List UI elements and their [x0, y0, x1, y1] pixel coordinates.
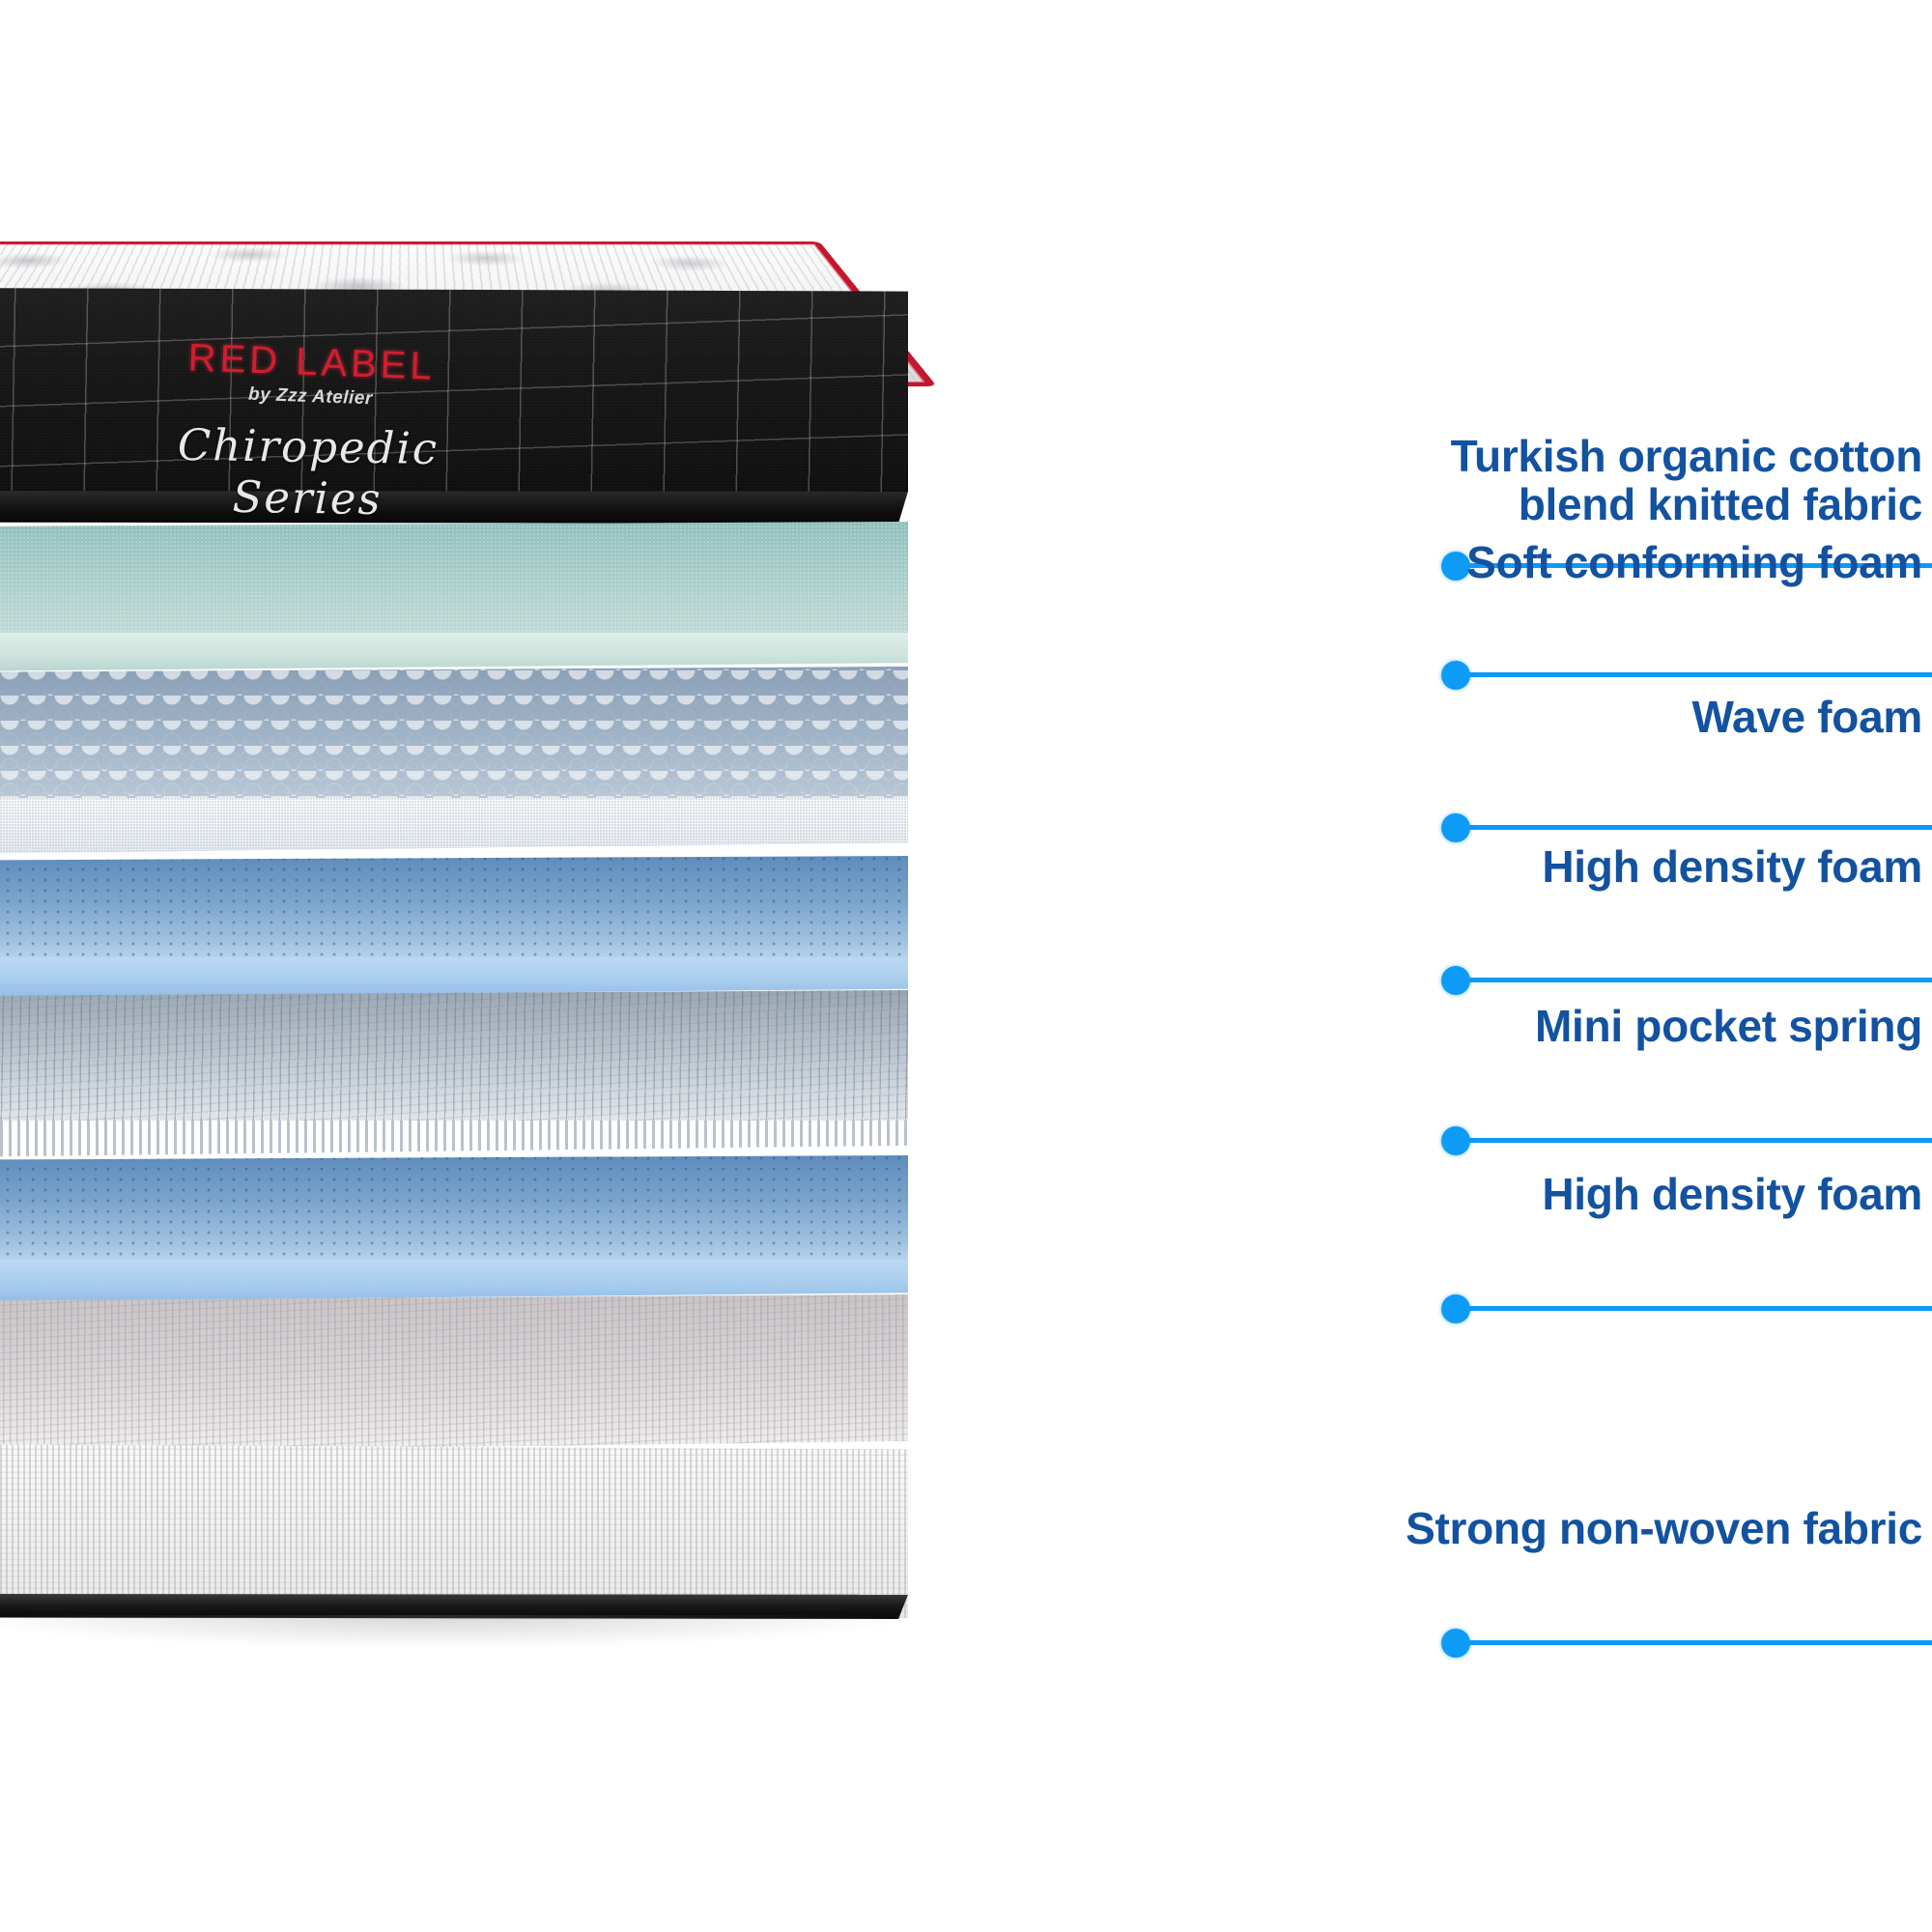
callout-leader-dot-high-density-foam-lower [1441, 1294, 1470, 1323]
high-density-foam-lower-top [0, 1155, 908, 1269]
callout-label-mini-pocket-spring: Mini pocket spring [1535, 1003, 1922, 1051]
mini-pocket-spring-edge [0, 1121, 908, 1157]
callout-label-soft-conforming-foam: Soft conforming foam [1466, 539, 1922, 587]
callout-leader-dot-strong-non-woven-fabric [1441, 1629, 1470, 1658]
callout-label-high-density-foam-lower: High density foam [1542, 1171, 1922, 1219]
non-woven-fabric-side [0, 1444, 908, 1618]
callout-leader-line-strong-non-woven-fabric [1452, 1640, 1932, 1645]
callout-label-turkish-cotton: Turkish organic cotton blend knitted fab… [1451, 433, 1922, 528]
callout-label-wave-foam: Wave foam [1692, 694, 1922, 742]
soft-conforming-foam-top [0, 522, 908, 642]
callout-leader-dot-turkish-cotton [1441, 552, 1470, 581]
callout-label-high-density-foam-upper: High density foam [1542, 843, 1922, 892]
callout-leader-dot-soft-conforming-foam [1441, 661, 1470, 690]
callout-leader-dot-wave-foam [1441, 813, 1470, 842]
base-drop-shadow [0, 1615, 908, 1648]
high-density-foam-upper-top [0, 856, 908, 967]
callout-label-line1: Turkish organic cotton [1451, 433, 1922, 481]
callout-leader-dot-mini-pocket-spring [1441, 1126, 1470, 1155]
callout-leader-line-high-density-foam-upper [1452, 978, 1932, 982]
callout-label-strong-non-woven-fabric: Strong non-woven fabric [1406, 1505, 1922, 1553]
callout-leader-dot-high-density-foam-upper [1441, 966, 1470, 995]
non-woven-fabric-top [0, 1294, 908, 1454]
wave-foam-convoluted-top [0, 667, 908, 811]
black-border-fabric-panel [0, 288, 908, 520]
callout-leader-line-high-density-foam-lower [1452, 1306, 1932, 1311]
callout-label-line2: blend knitted fabric [1451, 481, 1922, 529]
callout-leader-line-wave-foam [1452, 825, 1932, 830]
border-fabric-bottom-edge [0, 491, 908, 524]
callout-leader-line-mini-pocket-spring [1452, 1138, 1932, 1143]
callout-leader-line-turkish-cotton [1452, 563, 1932, 568]
wave-foam-base-slab [0, 798, 908, 854]
mini-pocket-spring-top [0, 990, 908, 1137]
callout-leader-line-soft-conforming-foam [1452, 672, 1932, 677]
mattress-layer-diagram: RED LABEL by Zzz Atelier Chiropedic Seri… [0, 0, 1932, 1932]
soft-conforming-foam-edge [0, 633, 908, 671]
mattress-cutaway-illustration: RED LABEL by Zzz Atelier Chiropedic Seri… [0, 0, 1082, 1932]
